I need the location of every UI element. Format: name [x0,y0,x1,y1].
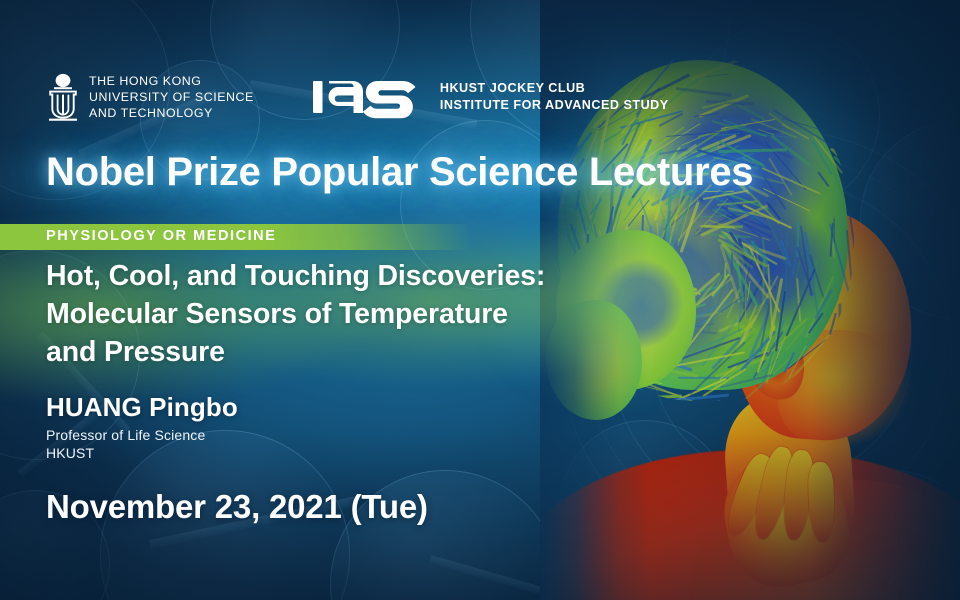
hkust-line-2: UNIVERSITY OF SCIENCE [89,89,254,105]
hkust-wordmark-text: THE HONG KONG UNIVERSITY OF SCIENCE AND … [89,73,254,121]
speaker-organization: HKUST [46,445,94,461]
hkust-line-3: AND TECHNOLOGY [89,105,254,121]
lecture-title-line-1: Hot, Cool, and Touching Discoveries: [46,258,686,296]
ias-line-2: INSTITUTE FOR ADVANCED STUDY [440,97,669,114]
branding-header: THE HONG KONG UNIVERSITY OF SCIENCE AND … [46,72,669,122]
ias-logo[interactable]: HKUST JOCKEY CLUB INSTITUTE FOR ADVANCED… [312,75,669,119]
poster-canvas: THE HONG KONG UNIVERSITY OF SCIENCE AND … [0,0,960,600]
category-label: PHYSIOLOGY OR MEDICINE [46,228,276,244]
speaker-role: Professor of Life Science [46,427,205,443]
lecture-title-line-2: Molecular Sensors of Temperature [46,296,686,334]
speaker-name: HUANG Pingbo [46,392,238,423]
ias-wordmark-text: HKUST JOCKEY CLUB INSTITUTE FOR ADVANCED… [440,80,669,113]
lecture-title-line-3: and Pressure [46,334,686,372]
hkust-logo[interactable]: THE HONG KONG UNIVERSITY OF SCIENCE AND … [46,72,254,122]
series-title: Nobel Prize Popular Science Lectures [46,150,753,195]
hkust-crest-icon [46,72,80,122]
ias-line-1: HKUST JOCKEY CLUB [440,80,669,97]
hkust-line-1: THE HONG KONG [89,73,254,89]
ias-wordmark-icon [312,75,428,119]
lecture-title: Hot, Cool, and Touching Discoveries: Mol… [46,258,686,372]
event-date: November 23, 2021 (Tue) [46,488,428,526]
